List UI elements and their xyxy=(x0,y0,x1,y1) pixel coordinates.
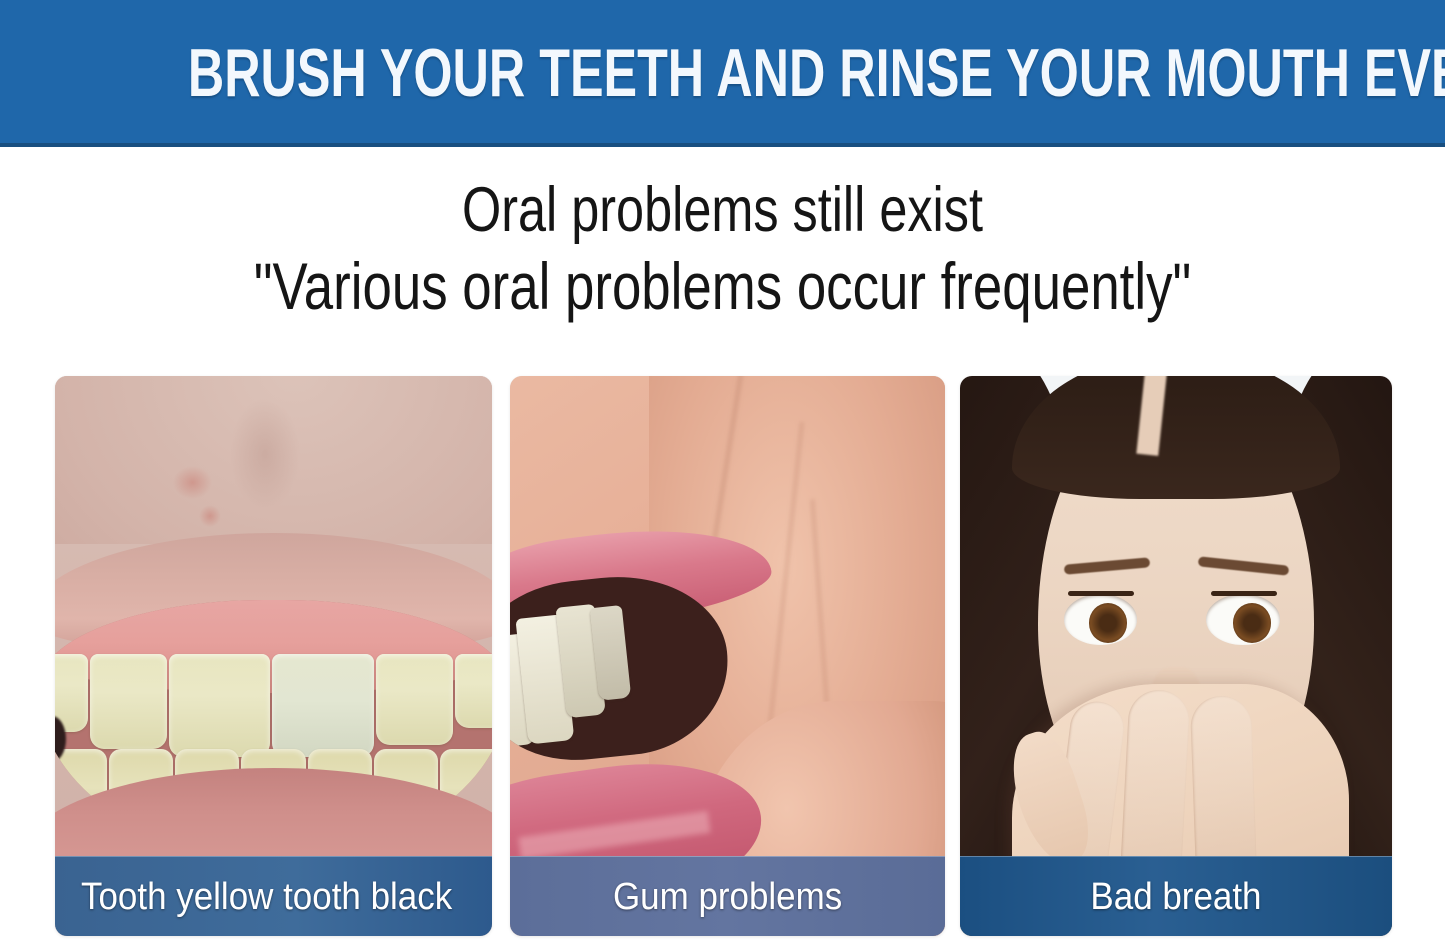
subheading-line-1: Oral problems still exist xyxy=(145,172,1301,248)
skin-blemish xyxy=(199,505,221,527)
subheading-block: Oral problems still exist "Various oral … xyxy=(0,172,1445,324)
tooth xyxy=(376,654,453,745)
upper-teeth-row xyxy=(55,654,492,757)
problem-card-tooth-discoloration[interactable]: Tooth yellow tooth black xyxy=(55,376,492,936)
iris xyxy=(1233,603,1271,642)
card-caption: Gum problems xyxy=(510,856,945,936)
tooth xyxy=(169,654,270,757)
gum-problems-photo xyxy=(510,376,945,936)
problem-card-gum-problems[interactable]: Gum problems xyxy=(510,376,945,936)
tooth xyxy=(272,654,373,757)
eyelash xyxy=(1211,591,1277,596)
subheading-line-2: "Various oral problems occur frequently" xyxy=(145,248,1301,324)
eyelash xyxy=(1068,591,1134,596)
header-banner: BRUSH YOUR TEETH AND RINSE YOUR MOUTH EV… xyxy=(0,0,1445,147)
eye-left xyxy=(1064,594,1137,644)
problem-card-row: Tooth yellow tooth black Gum problems xyxy=(0,376,1445,938)
problem-card-bad-breath[interactable]: Bad breath xyxy=(960,376,1392,936)
banner-title: BRUSH YOUR TEETH AND RINSE YOUR MOUTH EV… xyxy=(188,39,1257,107)
card-caption: Tooth yellow tooth black xyxy=(55,856,492,936)
card-caption-label: Bad breath xyxy=(1090,877,1261,917)
tooth-discoloration-photo xyxy=(55,376,492,936)
tooth xyxy=(455,654,492,728)
iris xyxy=(1089,603,1127,642)
philtrum-shadow xyxy=(230,398,300,510)
card-caption-label: Gum problems xyxy=(613,877,842,917)
eye-right xyxy=(1206,594,1279,644)
tooth xyxy=(90,654,167,749)
bad-breath-photo xyxy=(960,376,1392,936)
card-caption: Bad breath xyxy=(960,856,1392,936)
hair-fringe xyxy=(1012,376,1340,499)
card-caption-label: Tooth yellow tooth black xyxy=(81,877,452,917)
